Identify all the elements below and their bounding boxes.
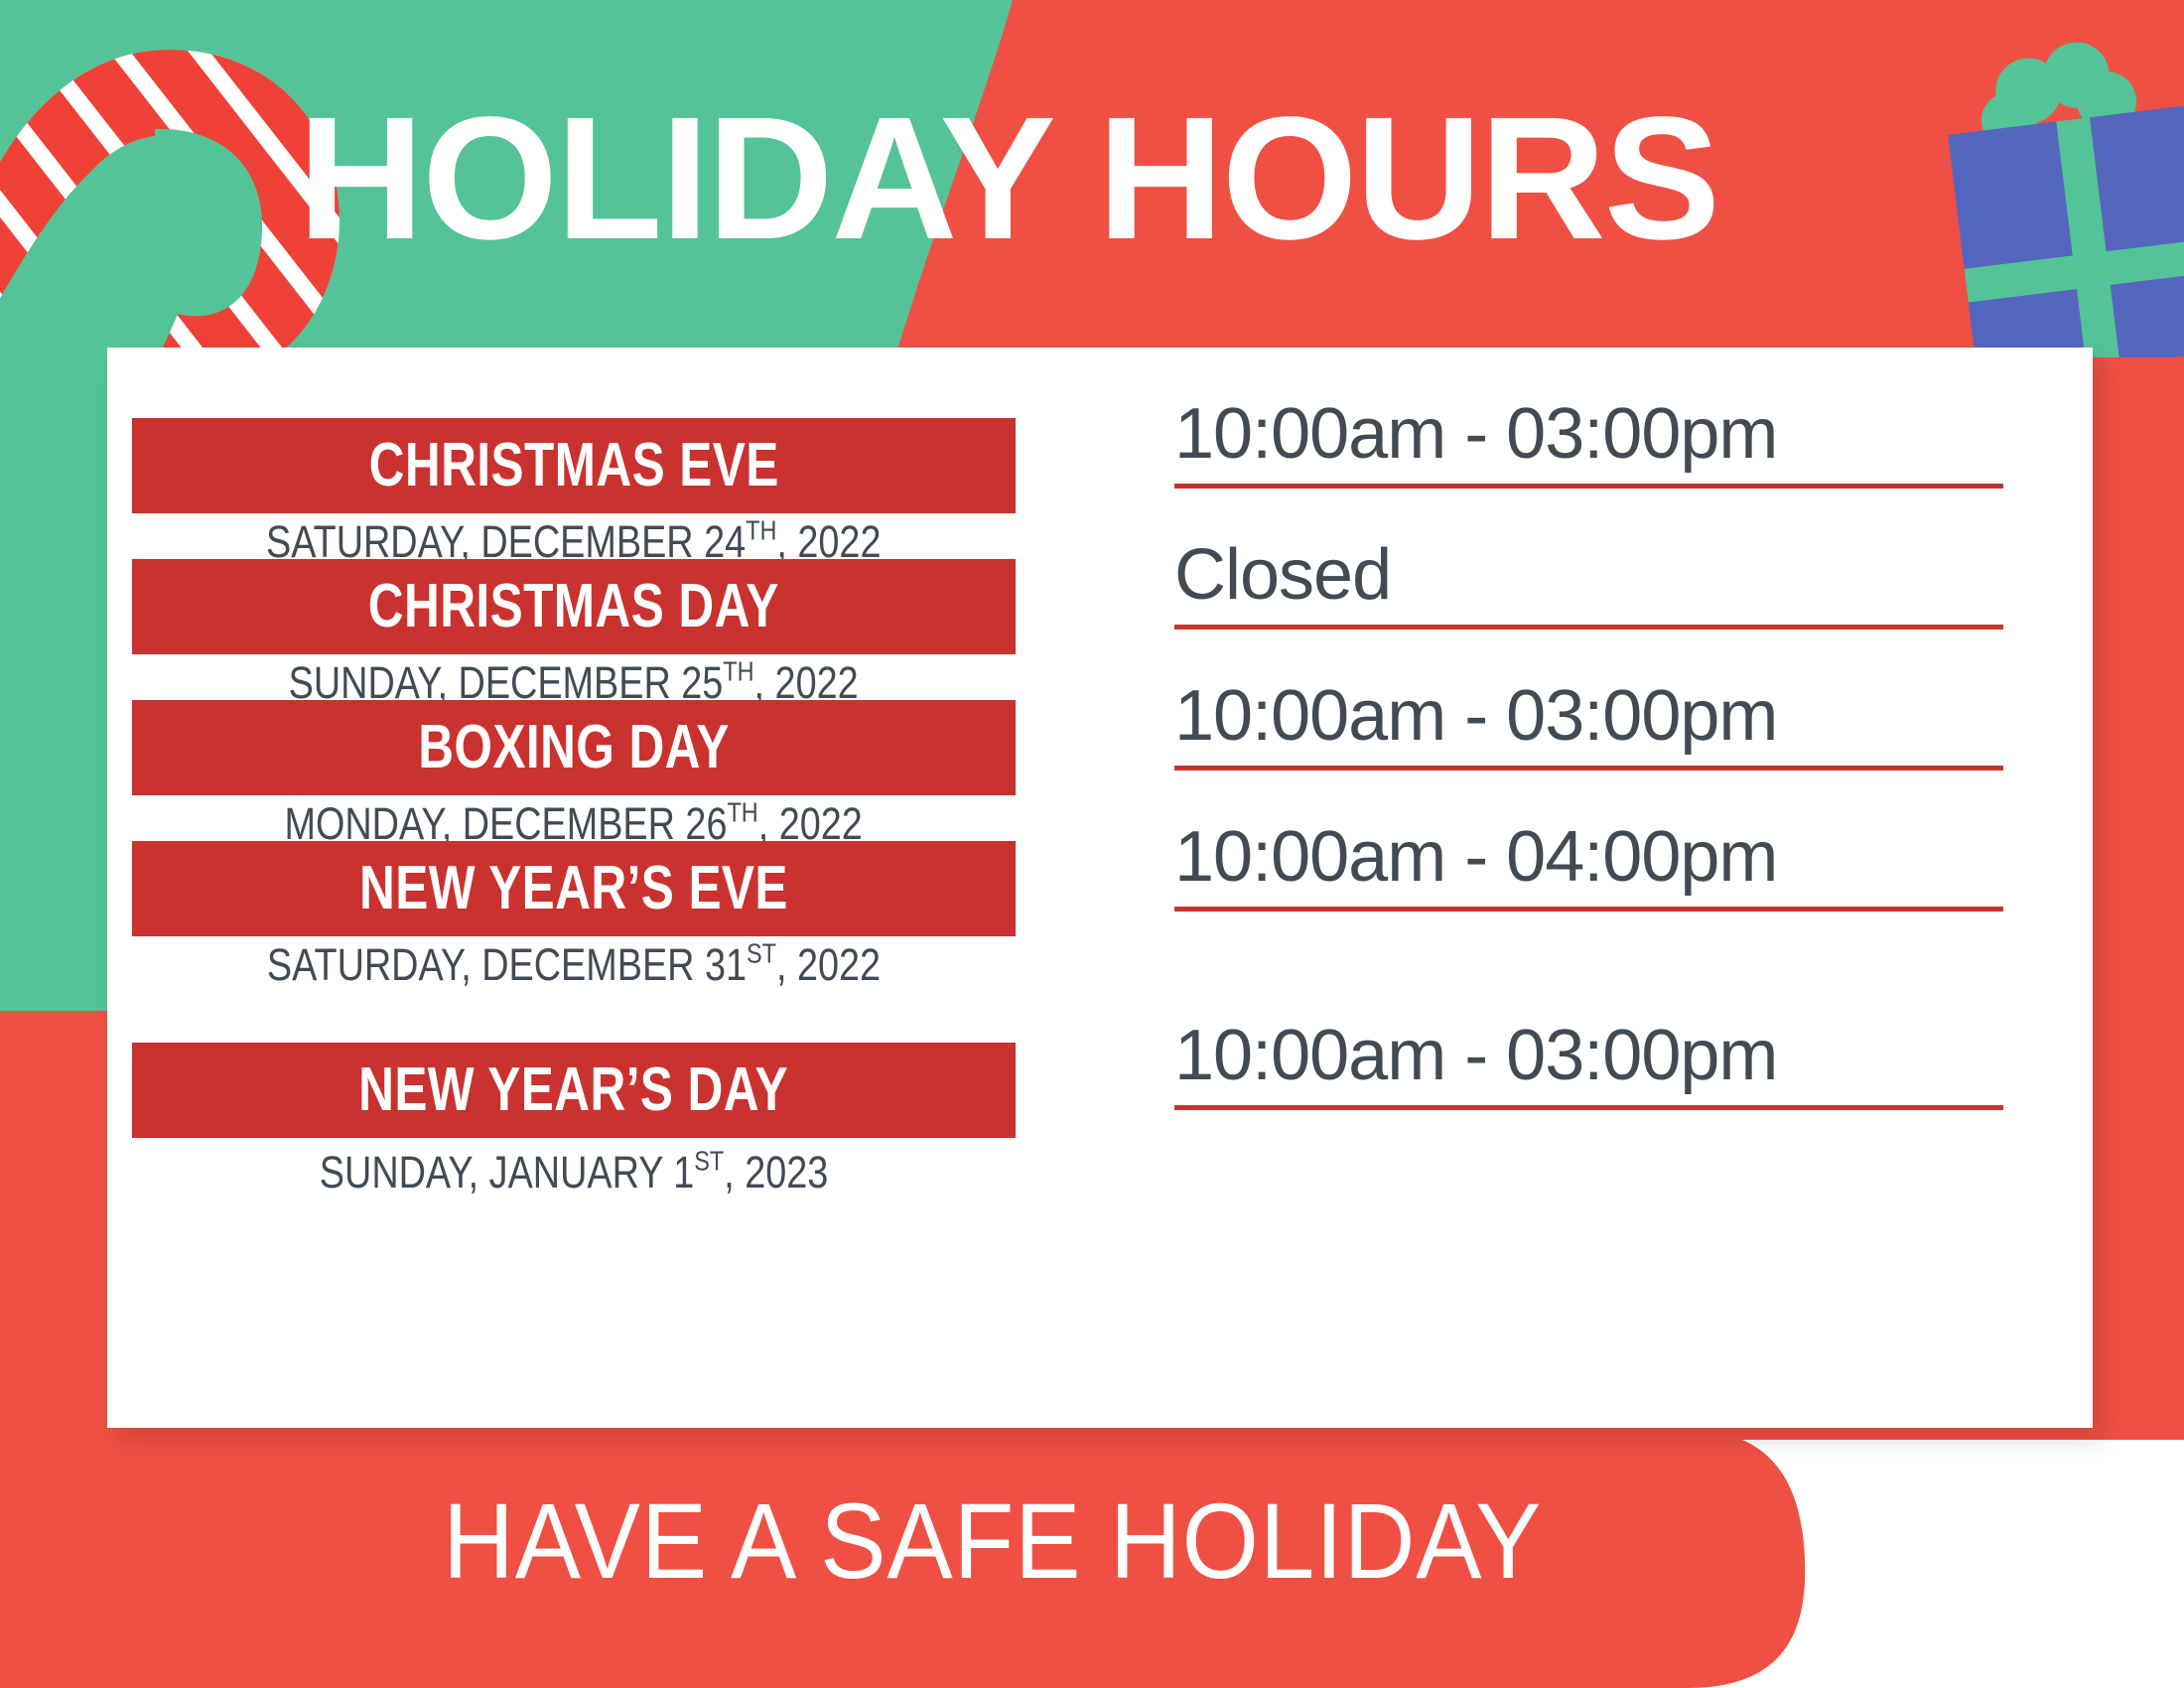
date-prefix: SUNDAY, JANUARY 1 bbox=[320, 1147, 694, 1197]
holiday-name: CHRISTMAS EVE bbox=[368, 435, 778, 496]
hours-cell: 10:00am - 03:00pm bbox=[1174, 398, 2003, 489]
hours-card: CHRISTMAS EVE SATURDAY, DECEMBER 24TH, 2… bbox=[107, 348, 2093, 1428]
holiday-name: NEW YEAR’S DAY bbox=[359, 1059, 789, 1121]
date-ordinal: TH bbox=[746, 515, 776, 546]
footer-message: HAVE A SAFE HOLIDAY bbox=[0, 1487, 1985, 1595]
date-suffix: , 2022 bbox=[776, 939, 881, 990]
hours-value: 10:00am - 04:00pm bbox=[1174, 821, 2003, 907]
hours-value: 10:00am - 03:00pm bbox=[1174, 680, 2003, 766]
date-ordinal: TH bbox=[724, 656, 754, 687]
holiday-name: NEW YEAR’S EVE bbox=[359, 858, 788, 919]
date-suffix: , 2023 bbox=[724, 1147, 828, 1197]
date-ordinal: TH bbox=[728, 797, 758, 828]
holiday-date: SATURDAY, DECEMBER 31ST, 2022 bbox=[132, 940, 1016, 990]
hours-cell: 10:00am - 03:00pm bbox=[1174, 1020, 2003, 1110]
date-prefix: SATURDAY, DECEMBER 31 bbox=[267, 939, 747, 990]
hours-cell: Closed bbox=[1174, 539, 2003, 630]
holiday-name: CHRISTMAS DAY bbox=[368, 576, 779, 637]
holiday-name-banner: BOXING DAY bbox=[132, 700, 1016, 795]
hours-cell: 10:00am - 03:00pm bbox=[1174, 680, 2003, 771]
hours-cell: 10:00am - 04:00pm bbox=[1174, 821, 2003, 912]
hours-row: NEW YEAR’S EVE SATURDAY, DECEMBER 31ST, … bbox=[107, 841, 2093, 1040]
holiday-name: BOXING DAY bbox=[418, 717, 730, 778]
holiday-name-banner: NEW YEAR’S DAY bbox=[132, 1043, 1016, 1138]
page-title: HOLIDAY HOURS bbox=[298, 91, 1926, 266]
hours-row: NEW YEAR’S DAY SUNDAY, JANUARY 1ST, 2023… bbox=[107, 1043, 2093, 1241]
hours-value: 10:00am - 03:00pm bbox=[1174, 1020, 2003, 1105]
holiday-name-banner: NEW YEAR’S EVE bbox=[132, 841, 1016, 936]
holiday-name-banner: CHRISTMAS DAY bbox=[132, 559, 1016, 654]
date-ordinal: ST bbox=[694, 1146, 724, 1177]
footer-message-text: HAVE A SAFE HOLIDAY bbox=[443, 1487, 1542, 1595]
holiday-hours-poster: HOLIDAY HOURS CHRISTMAS EVE SATURDAY, DE… bbox=[0, 0, 2184, 1688]
hours-value: 10:00am - 03:00pm bbox=[1174, 398, 2003, 484]
date-ordinal: ST bbox=[747, 938, 776, 969]
hours-value: Closed bbox=[1174, 539, 2003, 625]
holiday-date: SUNDAY, JANUARY 1ST, 2023 bbox=[132, 1148, 1016, 1197]
holiday-name-banner: CHRISTMAS EVE bbox=[132, 418, 1016, 513]
